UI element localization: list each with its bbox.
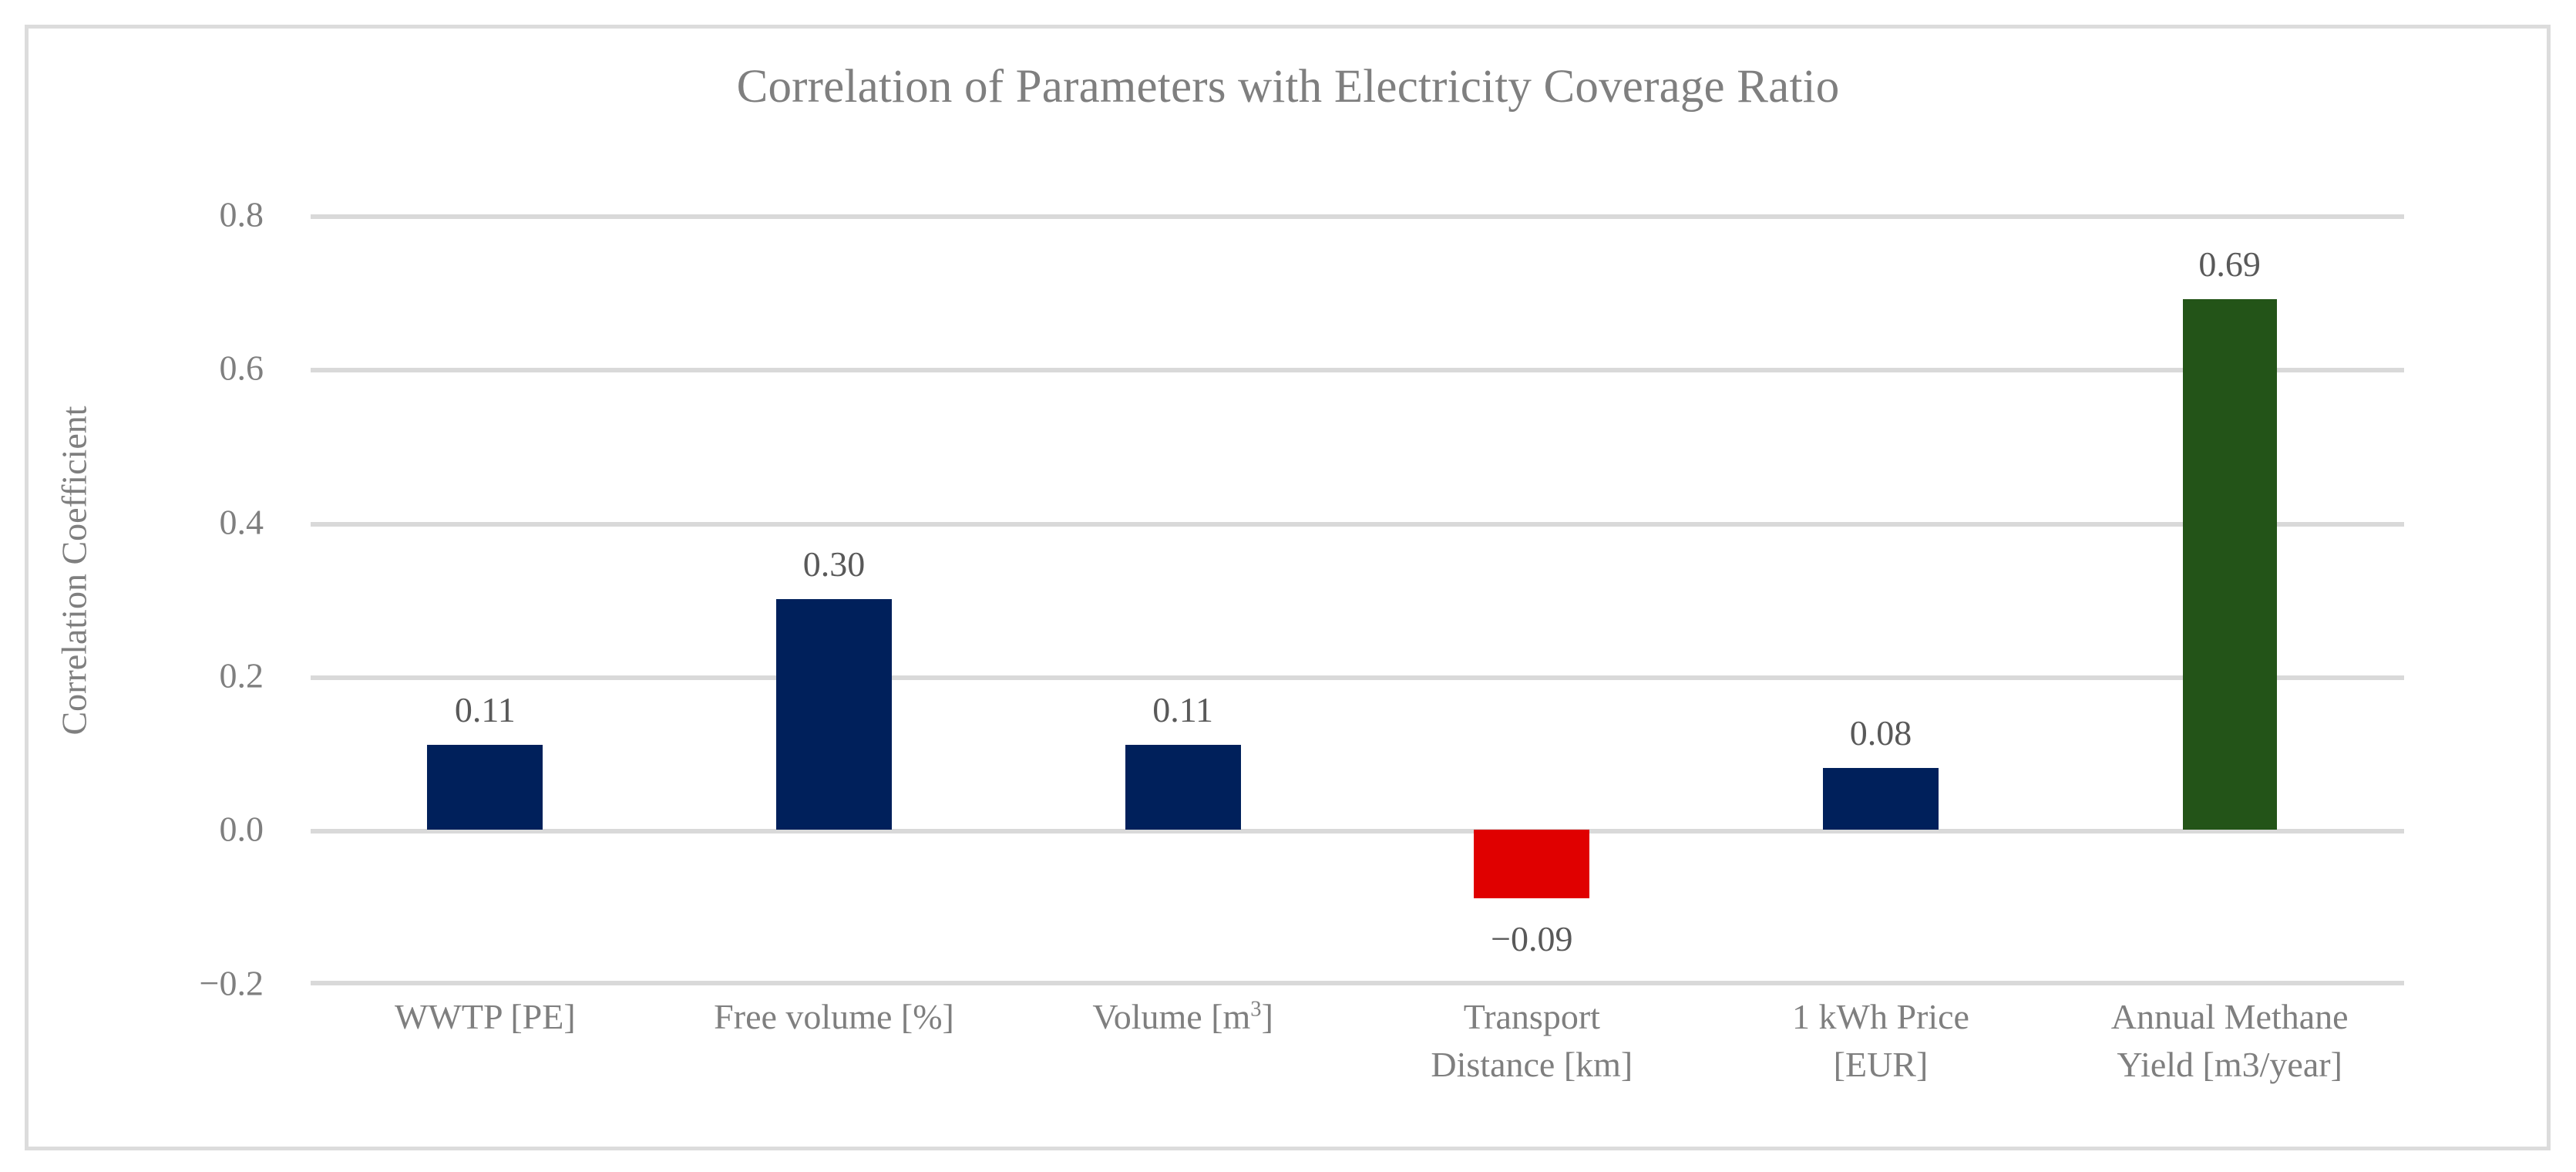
- bar-value-label-5: 0.69: [2198, 244, 2261, 285]
- bar-value-label-1: 0.30: [803, 544, 866, 584]
- x-axis-category-label-0: WWTP [PE]: [395, 993, 576, 1041]
- bar-5[interactable]: [2183, 299, 2277, 830]
- bar-4[interactable]: [1823, 768, 1939, 830]
- y-tick-2: 0.4: [220, 502, 264, 543]
- y-tick-0: 0.8: [220, 194, 264, 235]
- gridline-0.4: [311, 522, 2404, 527]
- bar-2[interactable]: [1125, 745, 1241, 830]
- x-axis-category-label-1: Free volume [%]: [714, 993, 954, 1041]
- bar-value-label-3: −0.09: [1491, 918, 1572, 959]
- gridline-0.2: [311, 675, 2404, 680]
- plot-area: [311, 214, 2404, 983]
- y-tick-5: −0.2: [200, 963, 264, 1004]
- x-axis-category-label-2: Volume [m3]: [1092, 993, 1273, 1041]
- bar-value-label-2: 0.11: [1152, 689, 1213, 730]
- x-axis-category-label-4: 1 kWh Price[EUR]: [1792, 993, 1969, 1089]
- bar-3[interactable]: [1474, 830, 1589, 899]
- y-axis-tick-labels: 0.8 0.6 0.4 0.2 0.0 −0.2: [0, 214, 293, 983]
- bar-value-label-4: 0.08: [1850, 712, 1912, 753]
- bar-value-label-0: 0.11: [455, 689, 516, 730]
- bar-1[interactable]: [776, 599, 892, 830]
- y-tick-3: 0.2: [220, 655, 264, 696]
- x-axis-category-label-3: TransportDistance [km]: [1431, 993, 1633, 1089]
- gridline--0.2: [311, 981, 2404, 985]
- bar-0[interactable]: [427, 745, 543, 830]
- x-axis-category-label-5: Annual MethaneYield [m3/year]: [2111, 993, 2349, 1089]
- y-tick-1: 0.6: [220, 348, 264, 389]
- gridline-0.6: [311, 368, 2404, 372]
- chart-title: Correlation of Parameters with Electrici…: [0, 60, 2576, 114]
- chart-figure: Correlation of Parameters with Electrici…: [0, 0, 2576, 1172]
- y-tick-4: 0.0: [220, 809, 264, 850]
- gridline-zero: [311, 829, 2404, 834]
- gridline-0.8: [311, 214, 2404, 219]
